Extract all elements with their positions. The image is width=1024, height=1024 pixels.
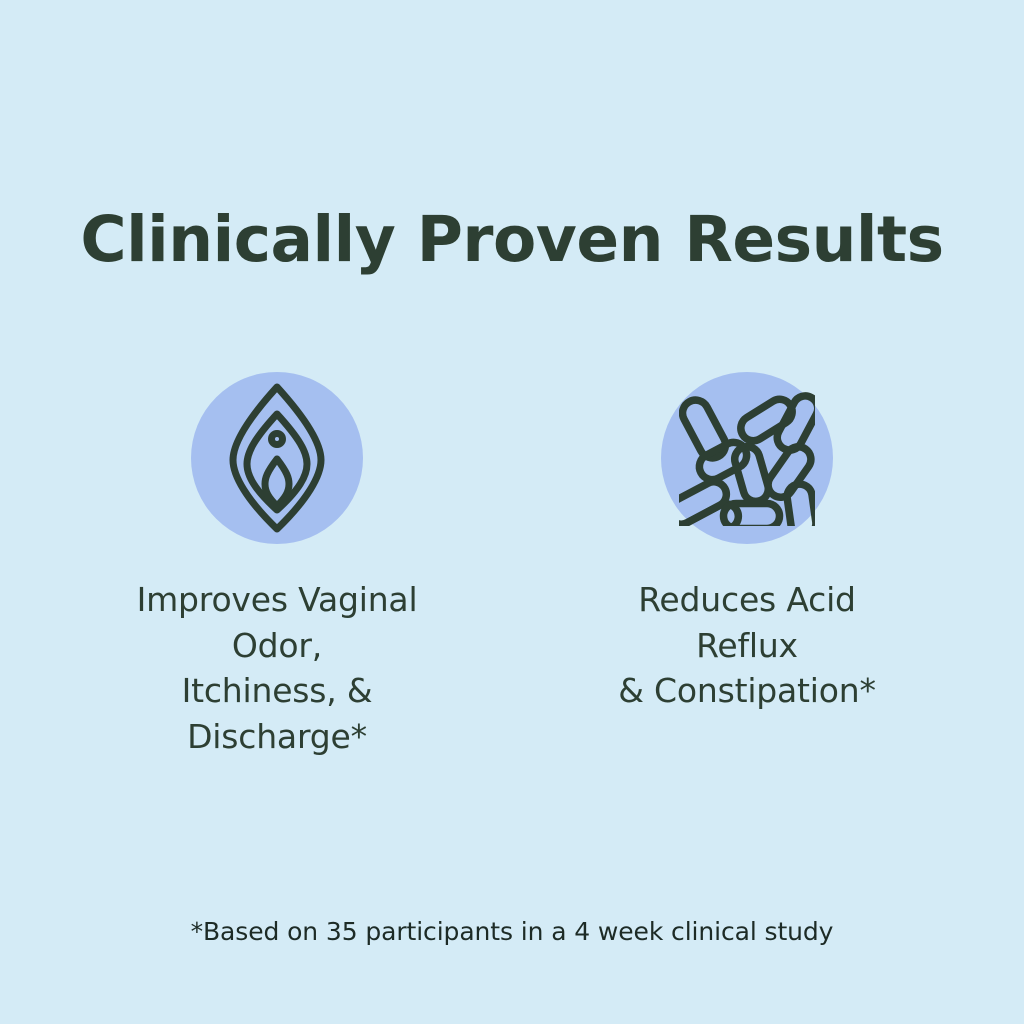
benefit-caption: Reduces Acid Reflux & Constipation* (597, 577, 897, 714)
clinical-results-card: Clinically Proven Results (0, 0, 1024, 1024)
footnote-disclaimer: *Based on 35 participants in a 4 week cl… (0, 917, 1024, 946)
benefit-icon-badge (191, 372, 363, 544)
vulva-health-icon (221, 382, 333, 534)
benefit-item: Reduces Acid Reflux & Constipation* (597, 372, 897, 714)
benefit-icon-badge (661, 372, 833, 544)
benefits-row: Improves Vaginal Odor, Itchiness, & Disc… (0, 372, 1024, 759)
benefit-caption: Improves Vaginal Odor, Itchiness, & Disc… (127, 577, 427, 759)
probiotic-bacteria-icon (679, 390, 815, 526)
page-title: Clinically Proven Results (0, 206, 1024, 274)
benefit-item: Improves Vaginal Odor, Itchiness, & Disc… (127, 372, 427, 759)
